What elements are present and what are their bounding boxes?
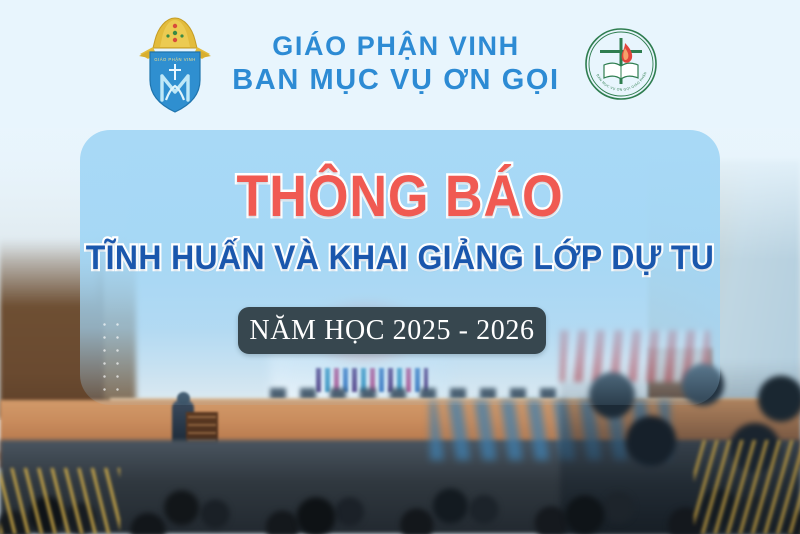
- header-title-block: GIÁO PHẬN VINH BAN MỤC VỤ ƠN GỌI: [232, 32, 559, 95]
- header-line-diocese: GIÁO PHẬN VINH: [232, 32, 559, 61]
- diocese-coat-of-arms-icon: GIÁO PHẬN VINH: [136, 14, 214, 114]
- poster-canvas: GIÁO PHẬN VINH GIÁO PHẬN VINH BAN MỤC VỤ…: [0, 0, 800, 534]
- vocation-ministry-emblem-icon: BAN MỤC VỤ ƠN GỌI GIÁO PHẬN VINH: [578, 21, 664, 107]
- school-year-label: NĂM HỌC 2025 - 2026: [249, 315, 534, 347]
- header-line-ministry: BAN MỤC VỤ ƠN GỌI: [232, 65, 559, 96]
- content-panel: [80, 130, 720, 405]
- poster-header: GIÁO PHẬN VINH GIÁO PHẬN VINH BAN MỤC VỤ…: [0, 0, 800, 128]
- panel-dot-pattern: [98, 318, 124, 392]
- school-year-badge: NĂM HỌC 2025 - 2026: [238, 307, 546, 354]
- svg-text:BAN MỤC VỤ ƠN GỌI GIÁO PHẬN VI: BAN MỤC VỤ ƠN GỌI GIÁO PHẬN VINH: [578, 21, 648, 92]
- svg-text:GIÁO PHẬN VINH: GIÁO PHẬN VINH: [155, 57, 196, 62]
